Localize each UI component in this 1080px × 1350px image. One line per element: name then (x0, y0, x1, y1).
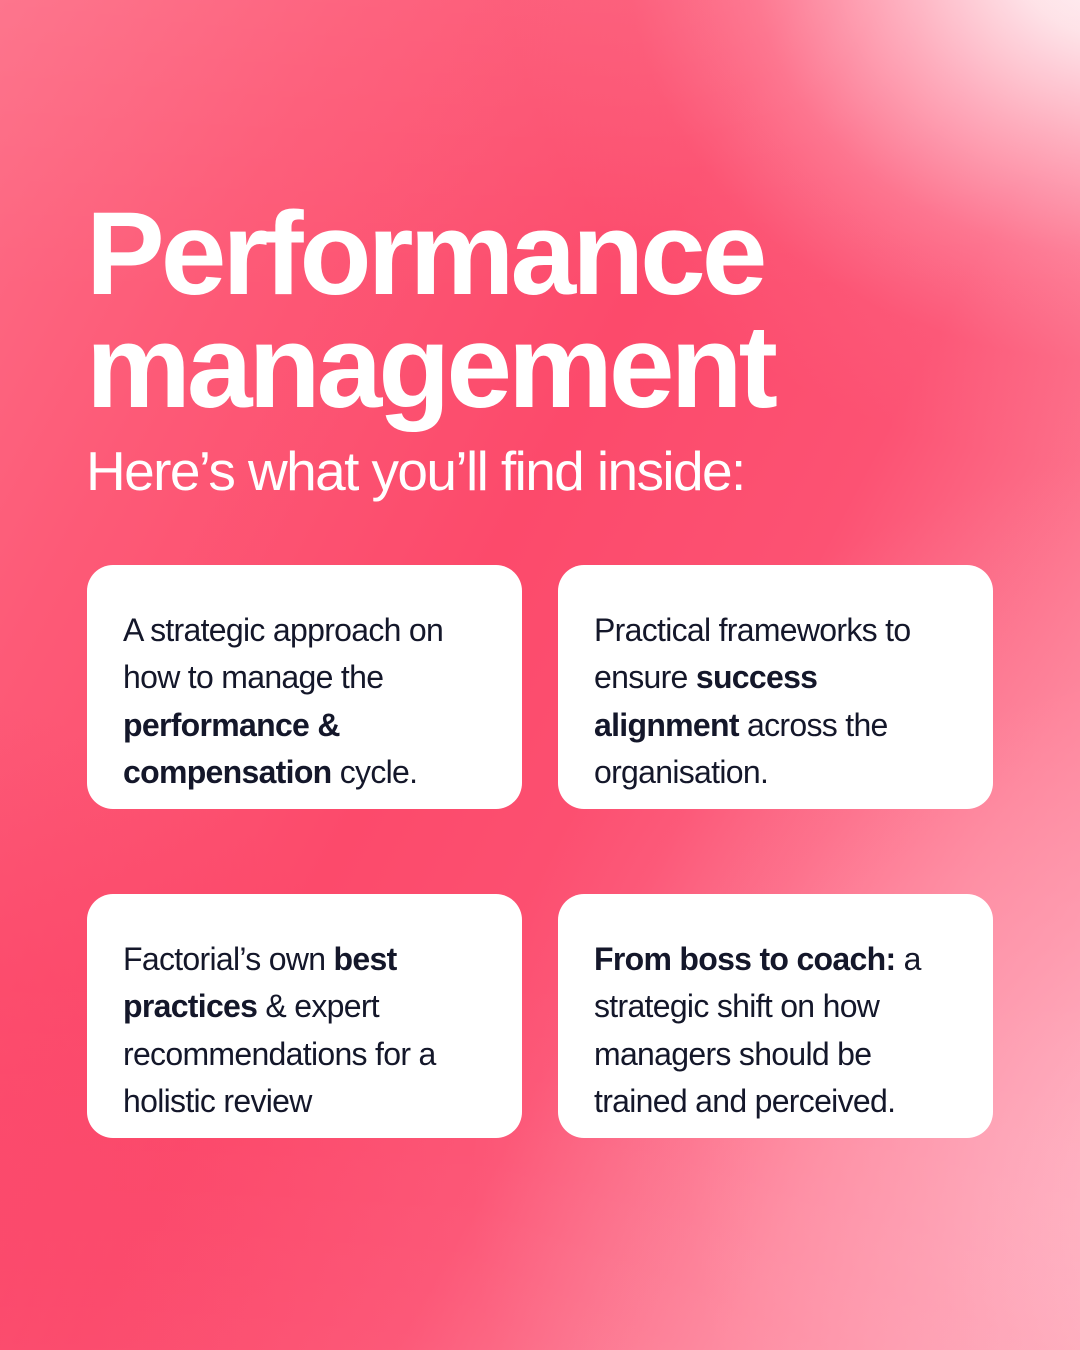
page-title: Performance management (86, 198, 1006, 425)
card-strategic-approach: A strategic approach on how to manage th… (87, 565, 522, 809)
card-text: Practical frameworks to ensure success a… (594, 607, 957, 796)
header: Performance management Here’s what you’l… (86, 198, 1006, 500)
card-practical-frameworks: Practical frameworks to ensure success a… (558, 565, 993, 809)
card-boss-to-coach: From boss to coach: a strategic shift on… (558, 894, 993, 1138)
slide-content: Performance management Here’s what you’l… (0, 0, 1080, 1350)
page-subtitle: Here’s what you’ll find inside: (86, 443, 1006, 501)
cards-grid: A strategic approach on how to manage th… (87, 565, 993, 1138)
card-text: Factorial’s own best practices & expert … (123, 936, 486, 1125)
card-text: From boss to coach: a strategic shift on… (594, 936, 957, 1125)
card-text: A strategic approach on how to manage th… (123, 607, 486, 796)
card-best-practices: Factorial’s own best practices & expert … (87, 894, 522, 1138)
